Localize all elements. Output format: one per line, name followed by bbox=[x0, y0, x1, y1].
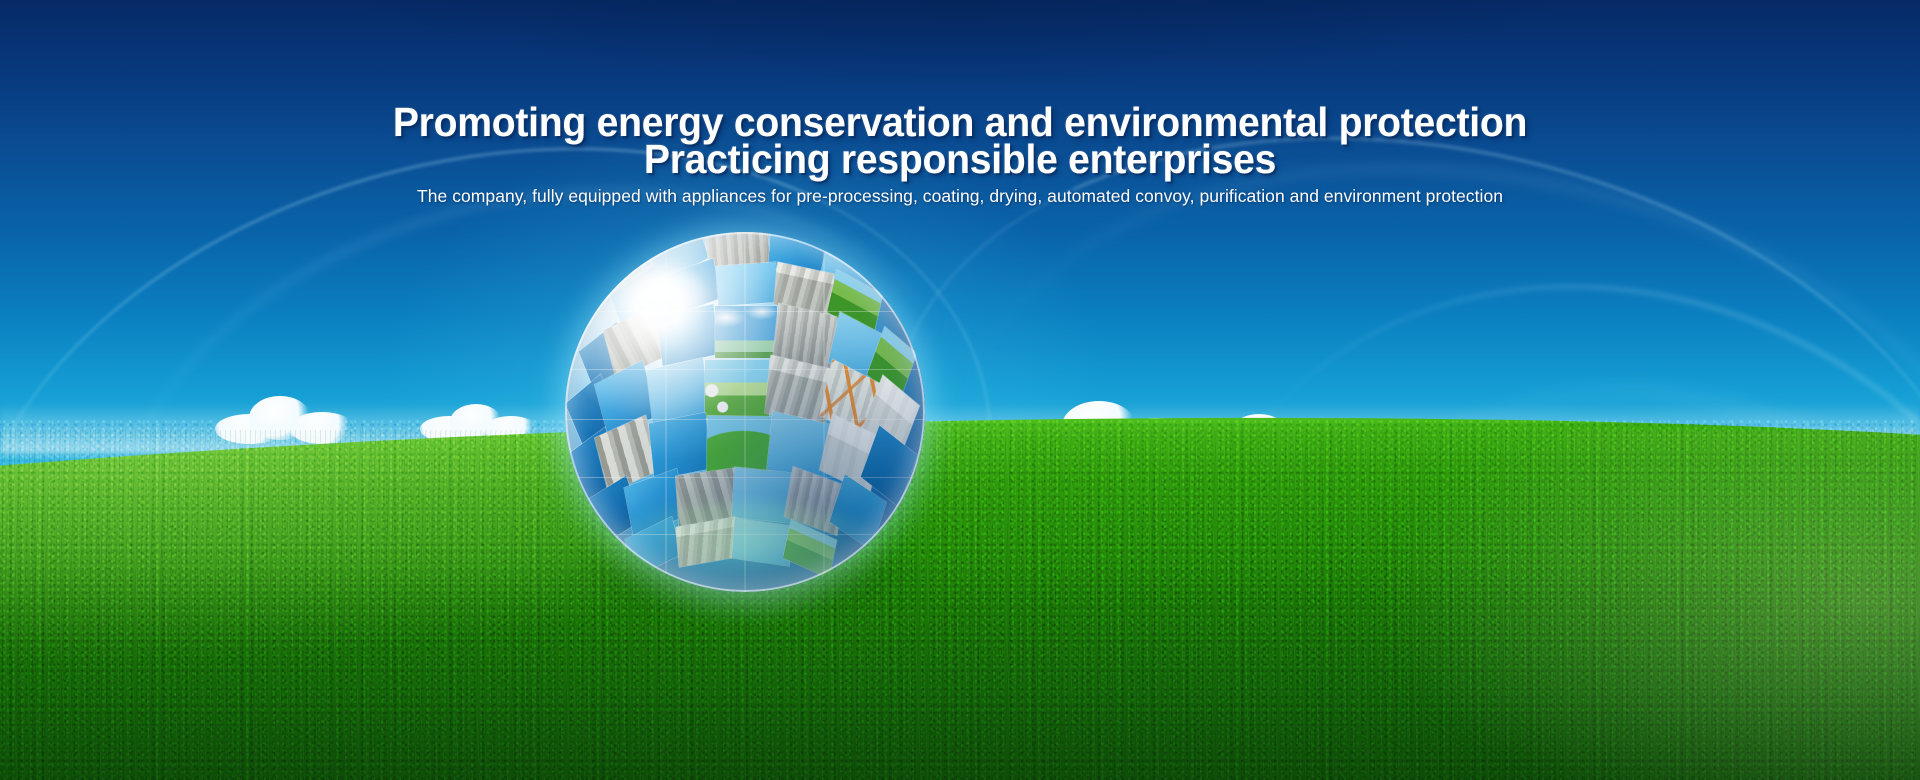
headline-line-2: Practicing responsible enterprises bbox=[43, 141, 1877, 178]
banner-headline: Promoting energy conservation and enviro… bbox=[43, 104, 1877, 178]
banner-subtitle: The company, fully equipped with applian… bbox=[0, 186, 1920, 207]
ground-foreground-shade bbox=[0, 560, 1920, 780]
photo-mosaic-globe bbox=[565, 232, 925, 592]
hero-banner: Promoting energy conservation and enviro… bbox=[0, 0, 1920, 780]
globe-bottom-glow bbox=[589, 502, 901, 632]
